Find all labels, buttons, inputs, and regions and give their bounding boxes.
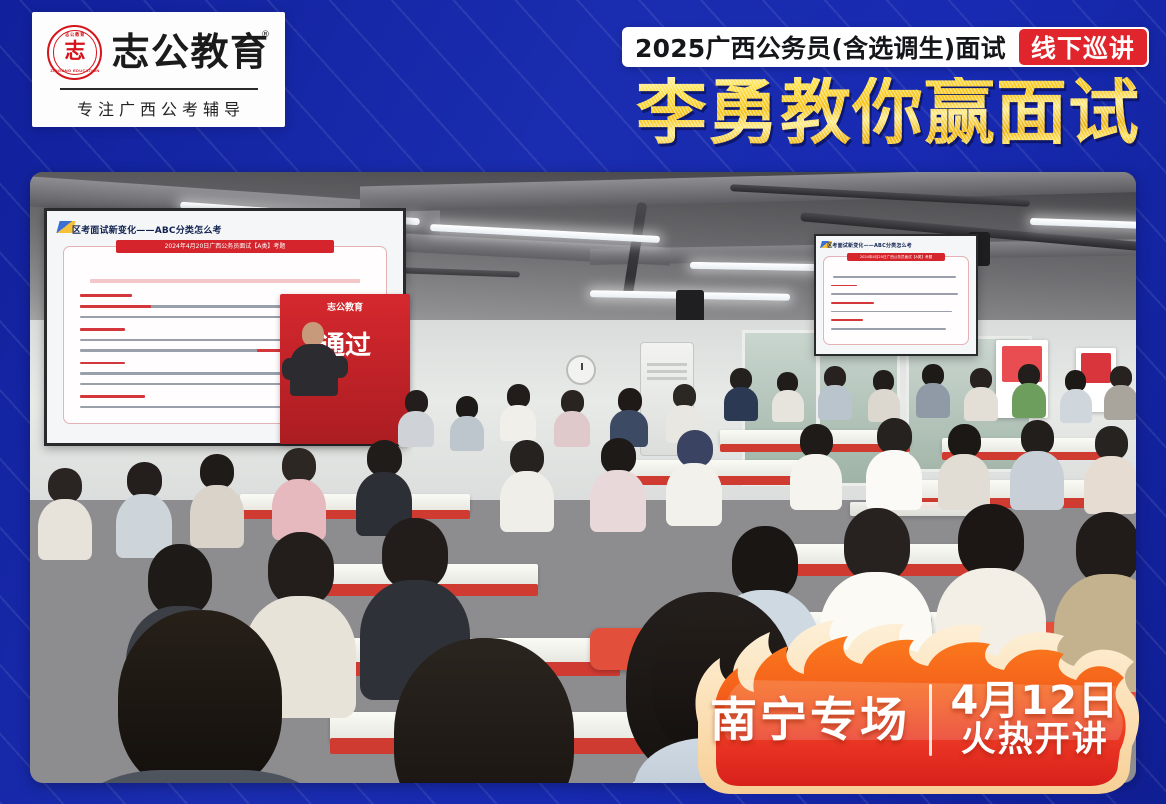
seal-center-char: 志 <box>64 41 85 62</box>
flame-shape-icon <box>672 614 1157 804</box>
header-badge: 线下巡讲 <box>1019 29 1147 65</box>
main-title-text: 李勇教你赢面试 <box>636 77 1140 148</box>
main-title: 李勇教你赢面试 <box>612 73 1140 151</box>
seal-arc-bottom-text: ZHIGONG EDUCATION <box>49 68 100 73</box>
header-banner-pill: 2025广西公务员(含选调生)面试 线下巡讲 <box>622 27 1149 67</box>
seal-logo-icon: 志公教育 志 ZHIGONG EDUCATION <box>47 25 102 80</box>
logo-divider <box>60 88 258 89</box>
seal-arc-top-text: 志公教育 <box>49 32 100 38</box>
brand-logo-row: 志公教育 志 ZHIGONG EDUCATION 志公教育 ® <box>47 19 269 81</box>
header-banner-text: 2025广西公务员(含选调生)面试 <box>622 27 1017 67</box>
brand-name-text: 志公教育 <box>111 30 269 74</box>
footer-flame-banner: 南宁专场 4月12日 火热开讲 <box>672 614 1157 804</box>
attendee-foreground <box>56 610 346 783</box>
registered-mark: ® <box>261 31 272 40</box>
brand-tagline: 专注广西公考辅导 <box>72 96 245 120</box>
attendee-foreground <box>360 638 610 783</box>
promo-poster: 志公教育 志 ZHIGONG EDUCATION 志公教育 ® 专注广西公考辅导… <box>0 0 1166 804</box>
brand-name: 志公教育 ® <box>111 33 269 71</box>
brand-logo-card: 志公教育 志 ZHIGONG EDUCATION 志公教育 ® 专注广西公考辅导 <box>32 12 285 127</box>
